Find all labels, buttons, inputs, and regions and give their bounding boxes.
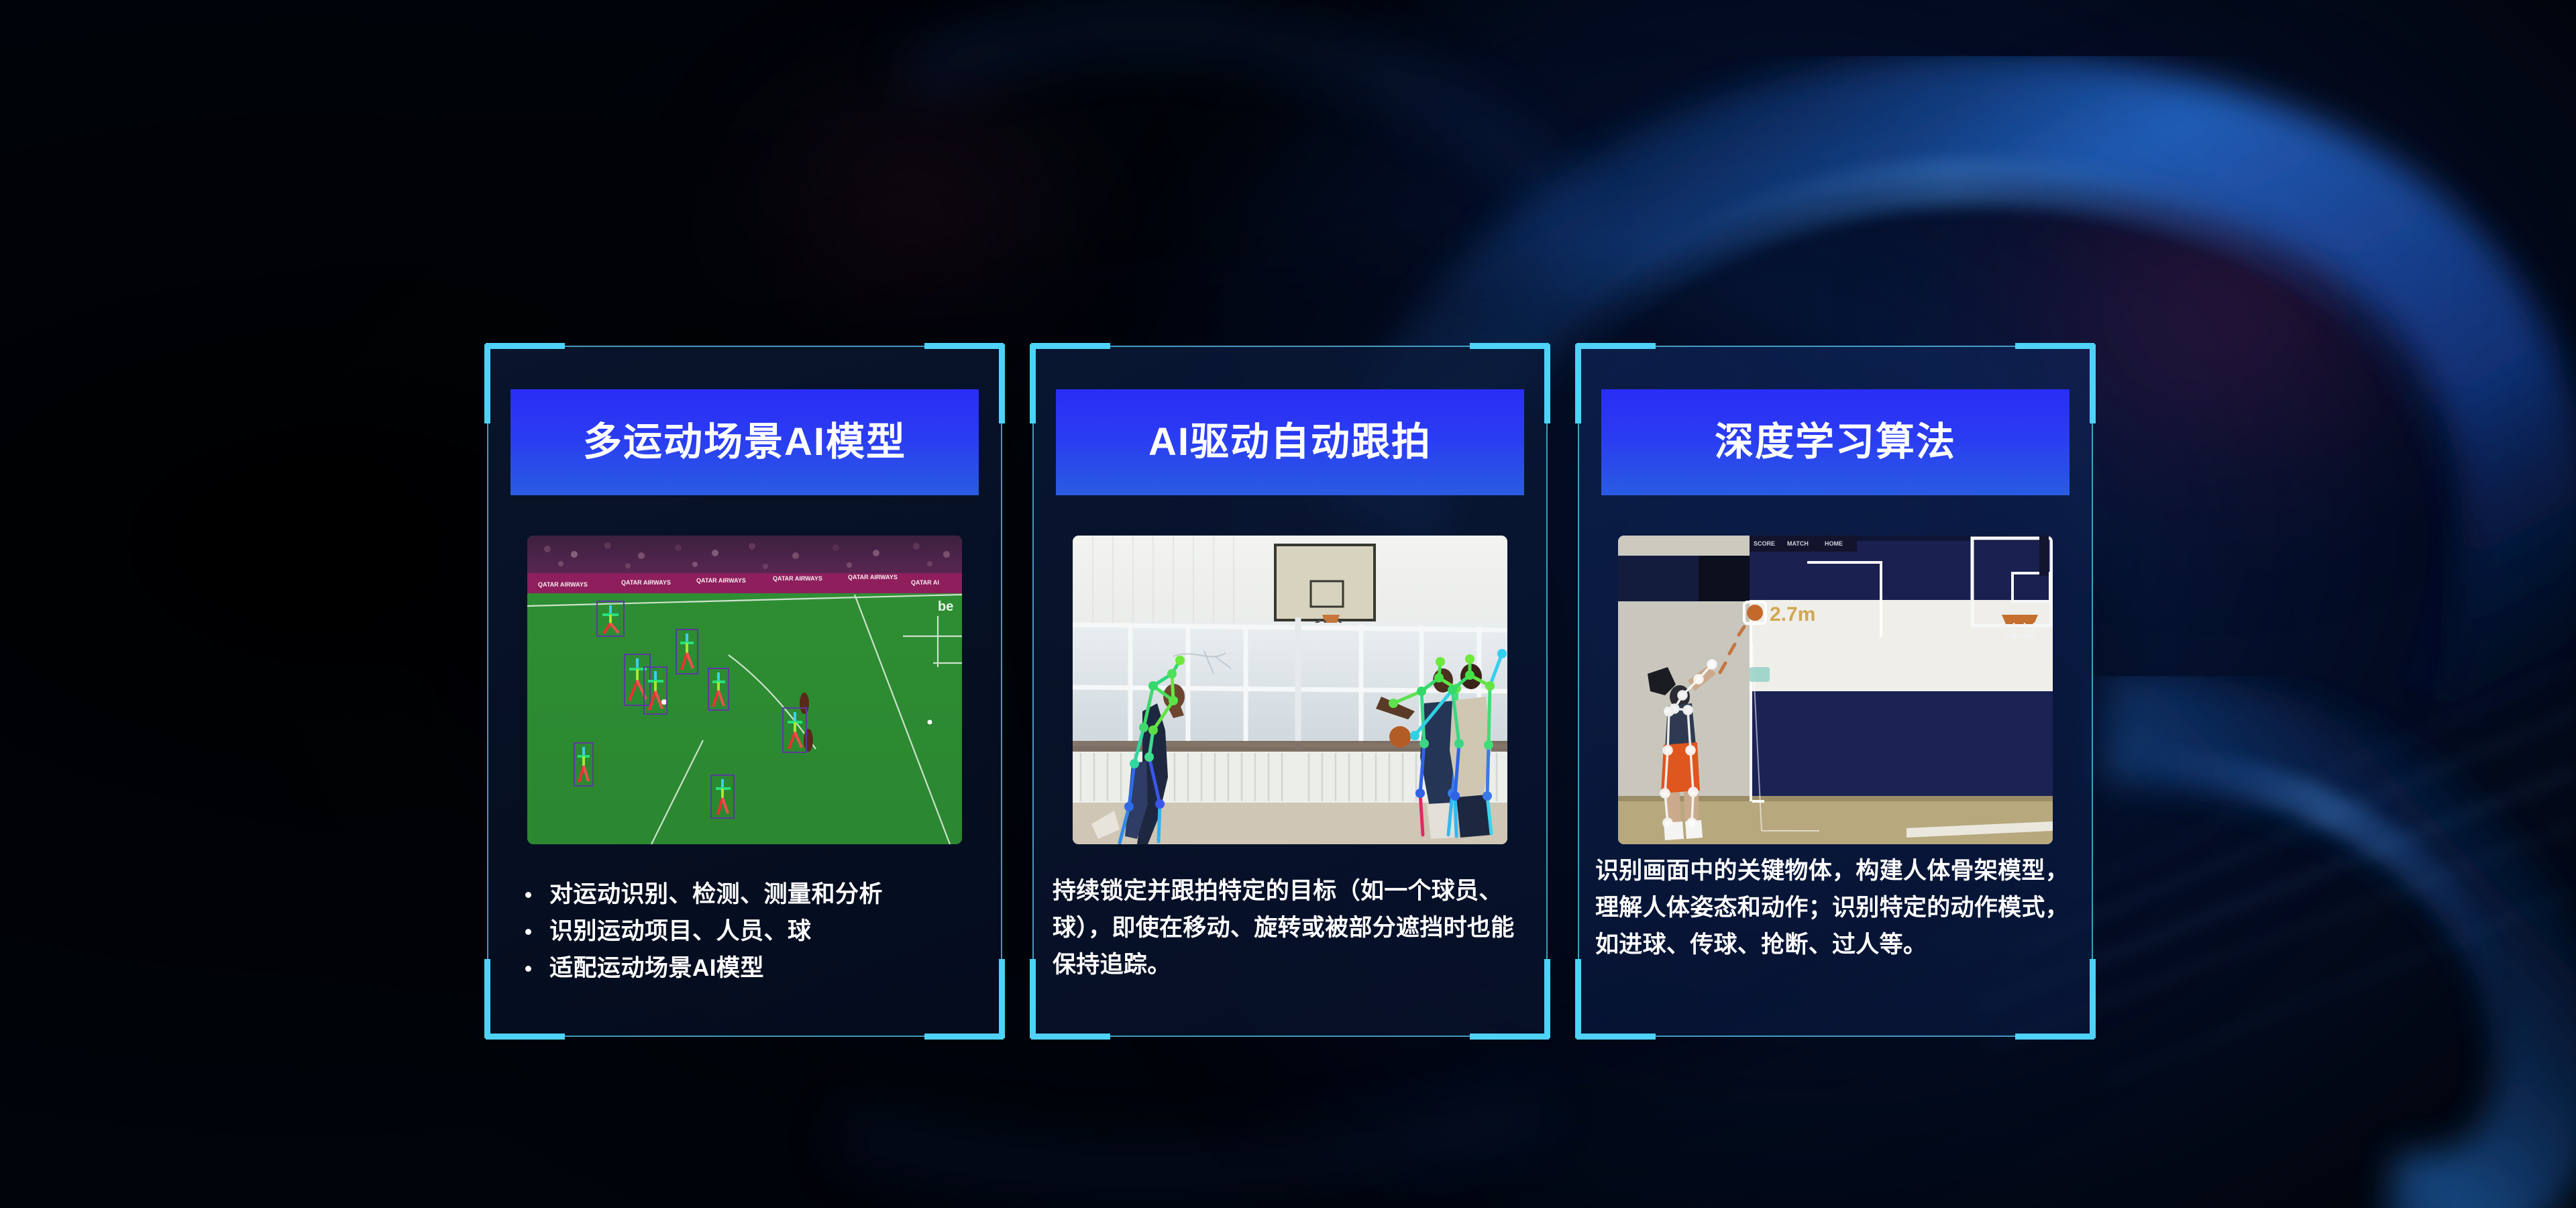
corner-bracket-top-left-v <box>1575 344 1581 423</box>
feature-paragraph: 持续锁定并跟拍特定的目标（如一个球员、球），即使在移动、旋转或被部分遮挡时也能保… <box>1053 872 1521 983</box>
bullet-item: 对运动识别、检测、测量和分析 <box>511 876 983 913</box>
card-body: 识别画面中的关键物体，构建人体骨架模型，理解人体姿态和动作；识别特定的动作模式，… <box>1595 852 2078 963</box>
corner-bracket-top-right-v <box>1544 344 1550 423</box>
card-body: 对运动识别、检测、测量和分析 识别运动项目、人员、球 适配运动场景AI模型 <box>511 876 983 987</box>
media-basketball-gym-skeleton[interactable] <box>1073 536 1507 844</box>
corner-bracket-top-left-v <box>1030 344 1036 423</box>
corner-bracket-bottom-left-h <box>1031 1034 1110 1040</box>
corner-bracket-top-right-h <box>1470 343 1549 349</box>
media-basketball-shot-measurement[interactable]: SCORE MATCH HOME <box>1618 536 2053 844</box>
svg-text:QATAR AIRWAYS: QATAR AIRWAYS <box>848 574 898 581</box>
scoreboard-label: SCORE <box>1754 540 1775 547</box>
corner-bracket-top-right-v <box>999 344 1005 423</box>
corner-bracket-bottom-right-h <box>924 1034 1004 1040</box>
corner-bracket-bottom-left-h <box>486 1034 565 1040</box>
svg-text:QATAR AIRWAYS: QATAR AIRWAYS <box>696 577 746 584</box>
corner-bracket-bottom-left-v <box>1575 959 1581 1038</box>
card-body: 持续锁定并跟拍特定的目标（如一个球员、球），即使在移动、旋转或被部分遮挡时也能保… <box>1053 872 1521 983</box>
corner-bracket-bottom-left-v <box>1030 959 1036 1038</box>
card-title-banner: 深度学习算法 <box>1601 389 2070 495</box>
corner-bracket-bottom-right-v <box>2090 959 2096 1038</box>
corner-bracket-bottom-right-v <box>999 959 1005 1038</box>
measurement-label: 2.7m <box>1770 603 1815 625</box>
card-title-banner: AI驱动自动跟拍 <box>1056 389 1524 495</box>
bullet-item: 识别运动项目、人员、球 <box>511 913 983 950</box>
corner-bracket-top-left-v <box>484 344 490 423</box>
svg-text:HOME: HOME <box>1825 540 1843 547</box>
feature-paragraph: 识别画面中的关键物体，构建人体骨架模型，理解人体姿态和动作；识别特定的动作模式，… <box>1595 852 2078 963</box>
bullet-item: 适配运动场景AI模型 <box>511 950 983 987</box>
corner-bracket-bottom-left-v <box>484 959 490 1038</box>
svg-text:QATAR AIRWAYS: QATAR AIRWAYS <box>538 581 588 588</box>
corner-bracket-bottom-right-v <box>1544 959 1550 1038</box>
card-title: 深度学习算法 <box>1715 423 1956 462</box>
svg-text:QATAR AI: QATAR AI <box>911 579 939 586</box>
corner-bracket-top-right-h <box>924 343 1004 349</box>
feature-card-multi-sport-ai-model[interactable]: 多运动场景AI模型 <box>487 346 1002 1037</box>
corner-bracket-top-right-h <box>2015 343 2094 349</box>
feature-card-deep-learning-algorithm[interactable]: 深度学习算法 SCORE MATCH HOME <box>1578 346 2093 1037</box>
svg-text:MATCH: MATCH <box>1787 540 1809 547</box>
feature-card-row: 多运动场景AI模型 <box>487 346 2094 1037</box>
svg-text:QATAR AIRWAYS: QATAR AIRWAYS <box>621 579 671 586</box>
card-title-banner: 多运动场景AI模型 <box>511 389 979 495</box>
corner-bracket-top-left-h <box>1031 343 1110 349</box>
svg-text:be: be <box>938 599 953 614</box>
corner-bracket-bottom-right-h <box>1470 1034 1549 1040</box>
corner-bracket-top-right-v <box>2090 344 2096 423</box>
corner-bracket-bottom-right-h <box>2015 1034 2094 1040</box>
corner-bracket-top-left-h <box>486 343 565 349</box>
feature-bullet-list: 对运动识别、检测、测量和分析 识别运动项目、人员、球 适配运动场景AI模型 <box>511 876 983 987</box>
svg-text:QATAR AIRWAYS: QATAR AIRWAYS <box>773 575 822 582</box>
corner-bracket-bottom-left-h <box>1576 1034 1656 1040</box>
corner-bracket-top-left-h <box>1576 343 1656 349</box>
card-title: 多运动场景AI模型 <box>583 423 906 462</box>
card-title: AI驱动自动跟拍 <box>1148 423 1432 462</box>
media-soccer-pose-detection[interactable]: QATAR AIRWAYS QATAR AIRWAYS QATAR AIRWAY… <box>527 536 962 844</box>
feature-card-ai-auto-tracking[interactable]: AI驱动自动跟拍 <box>1032 346 1548 1037</box>
